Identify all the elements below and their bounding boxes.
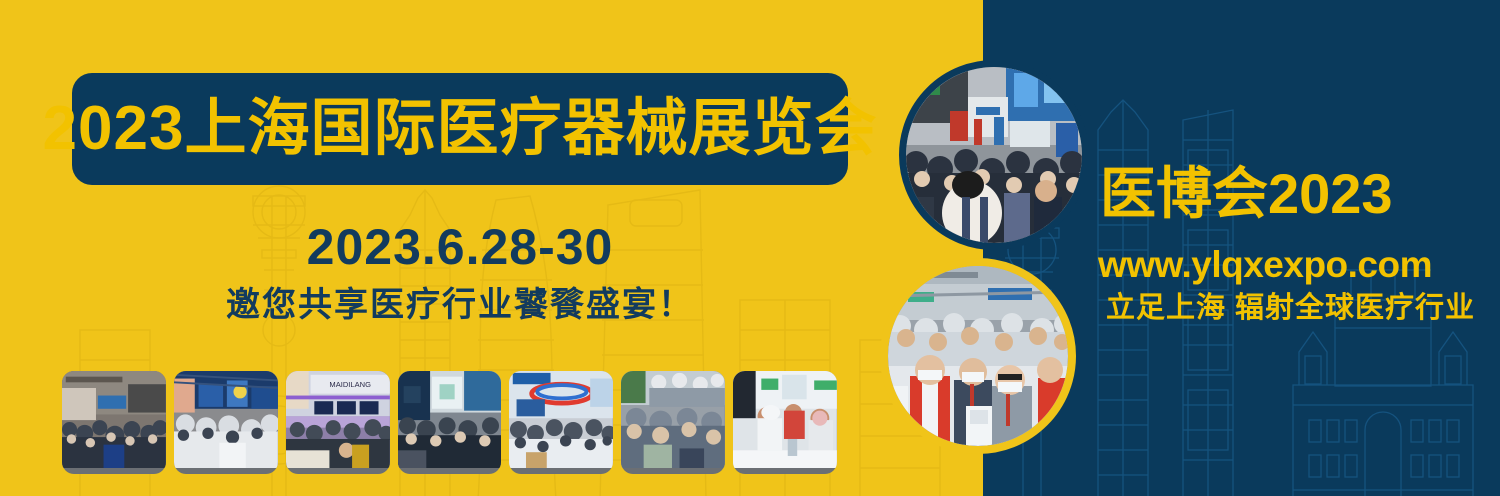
thumbnail-photo[interactable] [398, 371, 502, 474]
event-slogan: 邀您共享医疗行业饕餮盛宴！ [72, 288, 848, 322]
expo-banner: 2023上海国际医疗器械展览会 2023.6.28-30 邀您共享医疗行业饕餮盛… [0, 0, 1500, 496]
thumbnail-photo[interactable]: MAIDILANG [286, 371, 390, 474]
thumbnail-photo[interactable] [733, 371, 837, 474]
photo-thumbnail-strip: MAIDILANG [62, 371, 837, 474]
event-date: 2023.6.28-30 [72, 222, 848, 272]
thumbnail-photo[interactable] [621, 371, 725, 474]
svg-text:MAIDILANG: MAIDILANG [329, 380, 371, 389]
expo-website-url[interactable]: www.ylqxexpo.com [1098, 246, 1432, 283]
main-title: 2023上海国际医疗器械展览会 [43, 98, 878, 160]
thumbnail-photo[interactable] [174, 371, 278, 474]
thumbnail-photo[interactable] [62, 371, 166, 474]
expo-short-title: 医博会2023 [1100, 166, 1393, 222]
exhibition-hall-crowd-photo[interactable] [899, 60, 1089, 250]
visitors-registration-crowd-photo[interactable] [880, 258, 1076, 454]
main-title-plate: 2023上海国际医疗器械展览会 [72, 73, 848, 185]
expo-tagline: 立足上海 辐射全球医疗行业 [1106, 294, 1475, 323]
thumbnail-photo[interactable] [509, 371, 613, 474]
